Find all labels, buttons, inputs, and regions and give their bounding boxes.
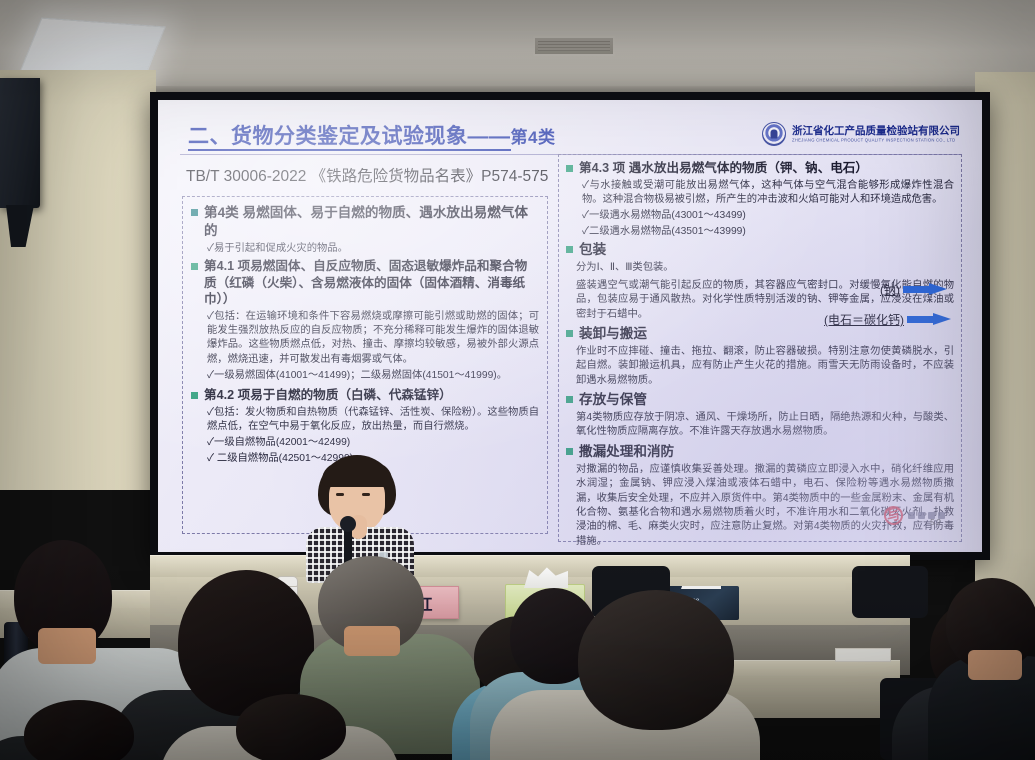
bullet-square-icon (191, 209, 198, 216)
bullet-square-icon (191, 392, 198, 399)
right-bullet-4-text: 存放与保管 (579, 391, 647, 409)
right-bullet-5-text: 撒漏处理和消防 (579, 443, 674, 461)
presenter-fringe (322, 463, 392, 487)
right-bullet-3-body: 作业时不应摔碰、撞击、拖拉、翻滚，防止容器破损。特别注意勿使黄磷脱水，引起自燃。… (576, 345, 954, 388)
left-bullet-3-check-1: ✓包括：发火物质和自热物质（代森锰锌、活性炭、保险粉）。这些物质自燃点低，在空气… (207, 406, 539, 434)
right-bullet-4-body: 第4类物质应存放于阴凉、通风、干燥场所，防止日晒，隔绝热源和火种，与酸类、氧化性… (576, 411, 954, 440)
right-bullet-2: 包装 (566, 241, 954, 259)
lecture-room-photo: 二、货物分类鉴定及试验现象——第4类 浙江省化工产品质量检验站有限公司 ZHEJ… (0, 0, 1035, 760)
arrow-right-icon (903, 283, 947, 296)
right-bullet-1-check-1: ✓与水接触或受潮可能放出易燃气体，这种气体与空气混合能够形成爆炸性混合物。这种混… (582, 179, 954, 207)
slide-title: 二、货物分类鉴定及试验现象——第4类 (188, 120, 555, 150)
slide-title-tail: 第4类 (511, 128, 556, 147)
bullet-square-icon (566, 330, 573, 337)
presenter-eye-right (362, 493, 370, 496)
left-bullet-2-check-1: ✓包括：在运输环境和条件下容易燃烧或摩擦可能引燃或助燃的固体；可能发生强烈放热反… (207, 310, 539, 367)
arrow-right-icon (907, 313, 951, 326)
slide-right-column: 第4.3 项 遇水放出易燃气体的物质（钾、钠、电石） ✓与水接触或受潮可能放出易… (558, 154, 962, 542)
left-bullet-2-text: 第4.1 项易燃固体、自反应物质、固态退敏爆炸品和聚合物质（红磷（火柴）、含易燃… (204, 258, 539, 308)
right-bullet-5: 撒漏处理和消防 (566, 443, 954, 461)
left-bullet-1: 第4类 易燃固体、易于自燃的物质、遇水放出易燃气体的 (191, 204, 539, 240)
slide-page-number: 52 (930, 518, 943, 527)
bullet-square-icon (566, 448, 573, 455)
bullet-square-icon (566, 165, 573, 172)
company-name-cn: 浙江省化工产品质量检验站有限公司 (792, 126, 960, 138)
left-bullet-3: 第4.2 项易于自燃的物质（白磷、代森锰锌） (191, 387, 539, 404)
right-bullet-3-text: 装卸与搬运 (579, 325, 647, 343)
left-bullet-3-check-2: ✓一级自燃物品(42001～42499) (207, 436, 539, 450)
bullet-square-icon (191, 263, 198, 270)
presenter-eye-left (336, 493, 344, 496)
bullet-square-icon (566, 396, 573, 403)
callout-sodium: (钠) (880, 281, 947, 298)
left-bullet-1-text: 第4类 易燃固体、易于自燃的物质、遇水放出易燃气体的 (204, 204, 539, 240)
company-name-en: ZHEJIANG CHEMICAL PRODUCT QUALITY INSPEC… (792, 137, 960, 143)
slide-subtitle: TB/T 30006-2022 《铁路危险货物品名表》P574-575 (186, 164, 548, 186)
left-bullet-2: 第4.1 项易燃固体、自反应物质、固态退敏爆炸品和聚合物质（红磷（火柴）、含易燃… (191, 258, 539, 308)
left-bullet-1-check: ✓易于引起和促成火灾的物品。 (207, 242, 539, 256)
callout-carbide-label: (电石＝碳化钙) (824, 311, 904, 328)
company-logo: 浙江省化工产品质量检验站有限公司 ZHEJIANG CHEMICAL PRODU… (762, 122, 960, 146)
presenter (300, 455, 420, 565)
chair-back (852, 566, 928, 618)
callout-carbide: (电石＝碳化钙) (824, 311, 951, 328)
left-bullet-3-text: 第4.2 项易于自燃的物质（白磷、代森锰锌） (204, 387, 452, 404)
left-bullet-2-check-2: ✓一级易燃固体(41001～41499)；二级易燃固体(41501～41999)… (207, 369, 539, 383)
company-emblem-icon (762, 122, 786, 146)
wall-mounted-speaker (0, 78, 40, 208)
slide-title-main: 二、货物分类鉴定及试验现象—— (188, 125, 511, 151)
callout-sodium-label: (钠) (880, 281, 900, 298)
projection-screen: 二、货物分类鉴定及试验现象——第4类 浙江省化工产品质量检验站有限公司 ZHEJ… (158, 100, 982, 552)
right-bullet-1-check-2: ✓一级遇水易燃物品(43001～43499) (582, 209, 954, 223)
right-bullet-2-text-1: 分为Ⅰ、Ⅱ、Ⅲ类包装。 (576, 261, 954, 275)
bullet-square-icon (566, 246, 573, 253)
air-vent (533, 36, 615, 56)
paper-sheet (835, 648, 891, 662)
right-bullet-1: 第4.3 项 遇水放出易燃气体的物质（钾、钠、电石） (566, 160, 954, 177)
right-bullet-2-text: 包装 (579, 241, 606, 259)
presentation-slide: 二、货物分类鉴定及试验现象——第4类 浙江省化工产品质量检验站有限公司 ZHEJ… (158, 100, 982, 552)
right-bullet-1-text: 第4.3 项 遇水放出易燃气体的物质（钾、钠、电石） (579, 160, 868, 177)
right-bullet-1-check-3: ✓二级遇水易燃物品(43501～43999) (582, 225, 954, 239)
right-bullet-4: 存放与保管 (566, 391, 954, 409)
